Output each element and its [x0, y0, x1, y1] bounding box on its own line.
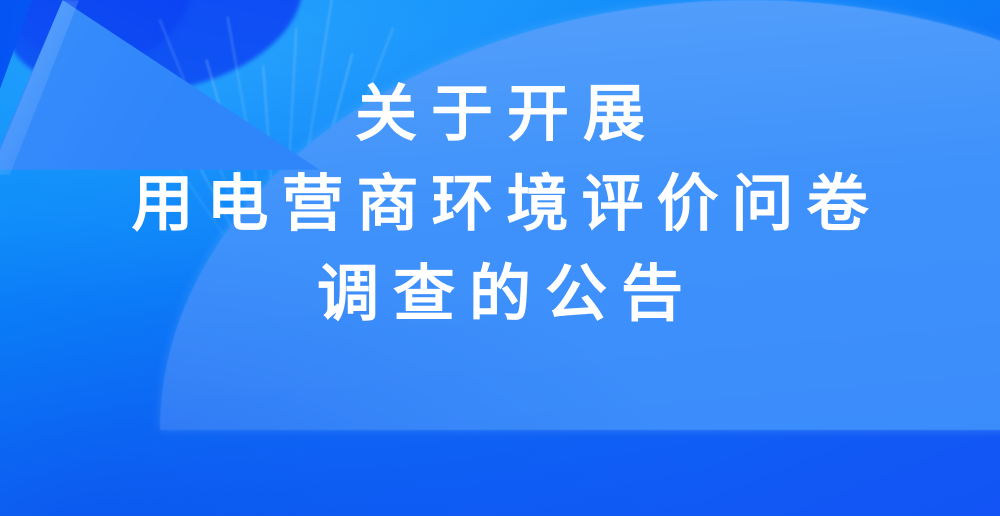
banner-title-line-3: 调查的公告	[0, 264, 1000, 326]
banner-title-line-1: 关于开展	[0, 84, 1000, 146]
banner-title: 关于开展 用电营商环境评价问卷 调查的公告	[0, 84, 1000, 326]
announcement-banner: 关于开展 用电营商环境评价问卷 调查的公告	[0, 0, 1000, 516]
top-right-dark-shape-inner	[0, 0, 190, 64]
banner-title-line-2: 用电营商环境评价问卷	[0, 174, 1000, 236]
